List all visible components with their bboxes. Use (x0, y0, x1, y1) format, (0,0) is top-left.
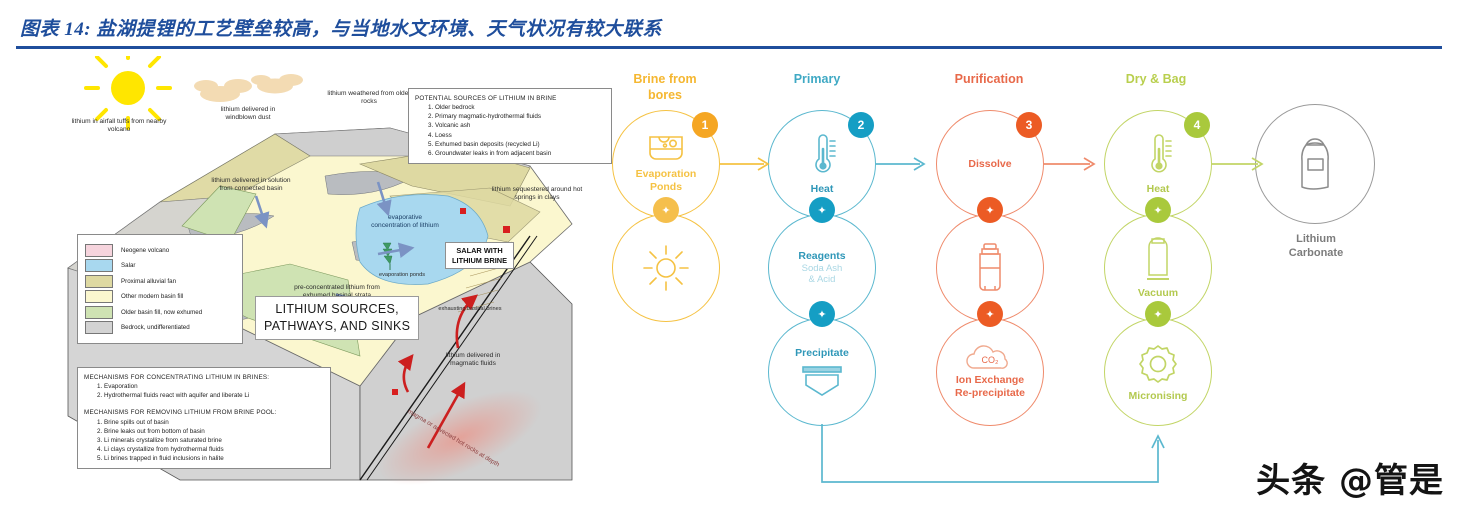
geology-block-diagram: lithium in airfall tuffs from nearby vol… (60, 56, 600, 508)
arrow-stage3-to-stage4 (1042, 152, 1104, 176)
legend-swatch-salar (85, 259, 113, 272)
product-label: Lithium Carbonate (1246, 233, 1386, 261)
annotation-lithium-windblown-dust: lithium delivered in windblown dust (212, 106, 284, 122)
node-sublabel: Soda Ash & Acid (802, 263, 843, 286)
annotation-lithium-in-solution: lithium delivered in solution from conne… (206, 177, 296, 193)
step-badge-2: 2 (848, 112, 874, 138)
node-label: Micronising (1129, 390, 1188, 403)
potential-sources-heading: POTENTIAL SOURCES OF LITHIUM IN BRINE (415, 94, 605, 103)
legend-item: Proximal alluvial fan (85, 275, 235, 288)
annotation-lithium-weathered-older-rocks: lithium weathered from older rocks (326, 90, 412, 106)
legend-swatch-proximal-alluvial-fan (85, 275, 113, 288)
annotation-lithium-airfall-tuffs: lithium in airfall tuffs from nearby vol… (70, 118, 168, 134)
legend-swatch-neogene-volcano (85, 244, 113, 257)
co2-cloud-icon: CO₂ (964, 344, 1016, 372)
potential-sources-item: 4. Loess (415, 131, 605, 140)
node-label: Heat (811, 183, 834, 196)
annotation-exhausting-basinal-brines: exhausting basinal brines (436, 306, 504, 313)
process-flow-diagram: Brine from bores Primary Purification Dr… (600, 56, 1458, 508)
legend-label: Proximal alluvial fan (121, 278, 176, 285)
map-legend: Neogene volcano Salar Proximal alluvial … (77, 234, 243, 344)
legend-swatch-older-basin-fill (85, 306, 113, 319)
node-label: Ion Exchange Re-precipitate (955, 374, 1025, 399)
legend-item: Bedrock, undifferentiated (85, 321, 235, 334)
node-label: Vacuum (1138, 287, 1178, 300)
step-number: 4 (1194, 118, 1201, 132)
potential-sources-item: 3. Volcanic ash (415, 121, 605, 130)
plus-connector-3b: ✦ (977, 301, 1003, 327)
mechanisms-removing-item: 1. Brine spills out of basin (84, 418, 324, 427)
step-number: 1 (702, 118, 709, 132)
arrow-stage2-to-stage3 (874, 152, 934, 176)
step-badge-1: 1 (692, 112, 718, 138)
node-label: Evaporation Ponds (636, 168, 697, 193)
node-precipitate[interactable]: Precipitate (768, 318, 876, 426)
column-header-dry-and-bag: Dry & Bag (1100, 72, 1212, 88)
step-number: 2 (858, 118, 865, 132)
gas-cylinder-icon (973, 242, 1007, 294)
dust-cloud-icon (194, 74, 303, 102)
mechanisms-removing-item: 5. Li brines trapped in fluid inclusions… (84, 454, 324, 463)
node-solar-evaporation[interactable] (612, 214, 720, 322)
node-lithium-carbonate[interactable]: Lithium Carbonate (1255, 104, 1375, 224)
potential-sources-item: 5. Exhumed basin deposits (recycled Li) (415, 140, 605, 149)
annotation-evaporation-ponds: evaporation ponds (376, 272, 428, 279)
vacuum-icon (1141, 237, 1175, 283)
node-micronising[interactable]: Micronising (1104, 318, 1212, 426)
potential-sources-item: 6. Groundwater leaks in from adjacent ba… (415, 149, 605, 158)
node-label: Dissolve (968, 158, 1011, 171)
plus-connector-3a: ✦ (977, 197, 1003, 223)
pond-icon (646, 134, 686, 162)
step-badge-3: 3 (1016, 112, 1042, 138)
title-divider (16, 46, 1442, 49)
mechanisms-removing-item: 3. Li minerals crystallize from saturate… (84, 436, 324, 445)
column-header-primary: Primary (762, 72, 872, 88)
node-label: Precipitate (795, 347, 849, 360)
plus-connector-2b: ✦ (809, 301, 835, 327)
annotation-lithium-magmatic-fluids: lithium delivered in magmatic fluids (438, 352, 508, 368)
lithium-sources-pathways-sinks-tag: LITHIUM SOURCES, PATHWAYS, AND SINKS (255, 296, 419, 340)
plus-connector-2a: ✦ (809, 197, 835, 223)
salar-with-lithium-brine-tag: SALAR WITH LITHIUM BRINE (445, 242, 514, 269)
annotation-lithium-sequestered-hot-springs: lithium sequestered around hot springs i… (484, 186, 590, 202)
thermometer-icon (807, 133, 837, 177)
node-label: Reagents (798, 250, 845, 263)
figure-header: 图表 14: 盐湖提锂的工艺壁垒较高，与当地水文环境、天气状况有较大联系 (0, 0, 1458, 52)
step-badge-4: 4 (1184, 112, 1210, 138)
mechanisms-removing-item: 4. Li clays crystallize from hydrotherma… (84, 445, 324, 454)
potential-sources-box: POTENTIAL SOURCES OF LITHIUM IN BRINE 1.… (408, 88, 612, 164)
page-title: 图表 14: 盐湖提锂的工艺壁垒较高，与当地水文环境、天气状况有较大联系 (20, 14, 662, 41)
plus-connector-1: ✦ (653, 197, 679, 223)
mechanisms-removing-heading: MECHANISMS FOR REMOVING LITHIUM FROM BRI… (84, 408, 324, 417)
recycle-arrow (810, 420, 1180, 500)
potential-sources-item: 2. Primary magmatic-hydrothermal fluids (415, 112, 605, 121)
legend-item: Neogene volcano (85, 244, 235, 257)
annotation-evaporative-concentration: evaporative concentration of lithium (368, 214, 442, 230)
mechanisms-concentrating-item: 2. Hydrothermal fluids react with aquife… (84, 391, 324, 400)
mechanisms-concentrating-heading: MECHANISMS FOR CONCENTRATING LITHIUM IN … (84, 373, 324, 382)
svg-text:CO₂: CO₂ (982, 355, 1000, 365)
node-ion-exchange[interactable]: CO₂ Ion Exchange Re-precipitate (936, 318, 1044, 426)
plus-connector-4b: ✦ (1145, 301, 1171, 327)
legend-label: Salar (121, 262, 135, 269)
step-number: 3 (1026, 118, 1033, 132)
bucket-icon (800, 365, 844, 397)
arrow-stage4-to-product (1210, 152, 1272, 176)
potential-sources-item: 1. Older bedrock (415, 103, 605, 112)
sun-icon (642, 244, 690, 292)
mechanisms-concentrating-item: 1. Evaporation (84, 382, 324, 391)
mechanisms-box: MECHANISMS FOR CONCENTRATING LITHIUM IN … (77, 367, 331, 469)
mechanisms-removing-item: 2. Brine leaks out from bottom of basin (84, 427, 324, 436)
legend-item: Salar (85, 259, 235, 272)
legend-label: Other modern basin fill (121, 293, 183, 300)
legend-swatch-other-modern-basin-fill (85, 290, 113, 303)
legend-label: Older basin fill, now exhumed (121, 309, 202, 316)
legend-item: Other modern basin fill (85, 290, 235, 303)
column-header-brine-from-bores: Brine from bores (610, 72, 720, 103)
watermark: 头条 @管是 (1256, 453, 1444, 502)
plus-connector-4a: ✦ (1145, 197, 1171, 223)
arrow-stage1-to-stage2 (718, 152, 778, 176)
legend-swatch-bedrock (85, 321, 113, 334)
legend-item: Older basin fill, now exhumed (85, 306, 235, 319)
column-header-purification: Purification (930, 72, 1048, 88)
bag-icon (1293, 135, 1337, 193)
figure-canvas: lithium in airfall tuffs from nearby vol… (0, 56, 1458, 508)
thermometer-icon (1143, 133, 1173, 177)
legend-label: Neogene volcano (121, 247, 169, 254)
gear-icon (1136, 342, 1180, 386)
node-label: Heat (1147, 183, 1170, 196)
legend-label: Bedrock, undifferentiated (121, 324, 190, 331)
